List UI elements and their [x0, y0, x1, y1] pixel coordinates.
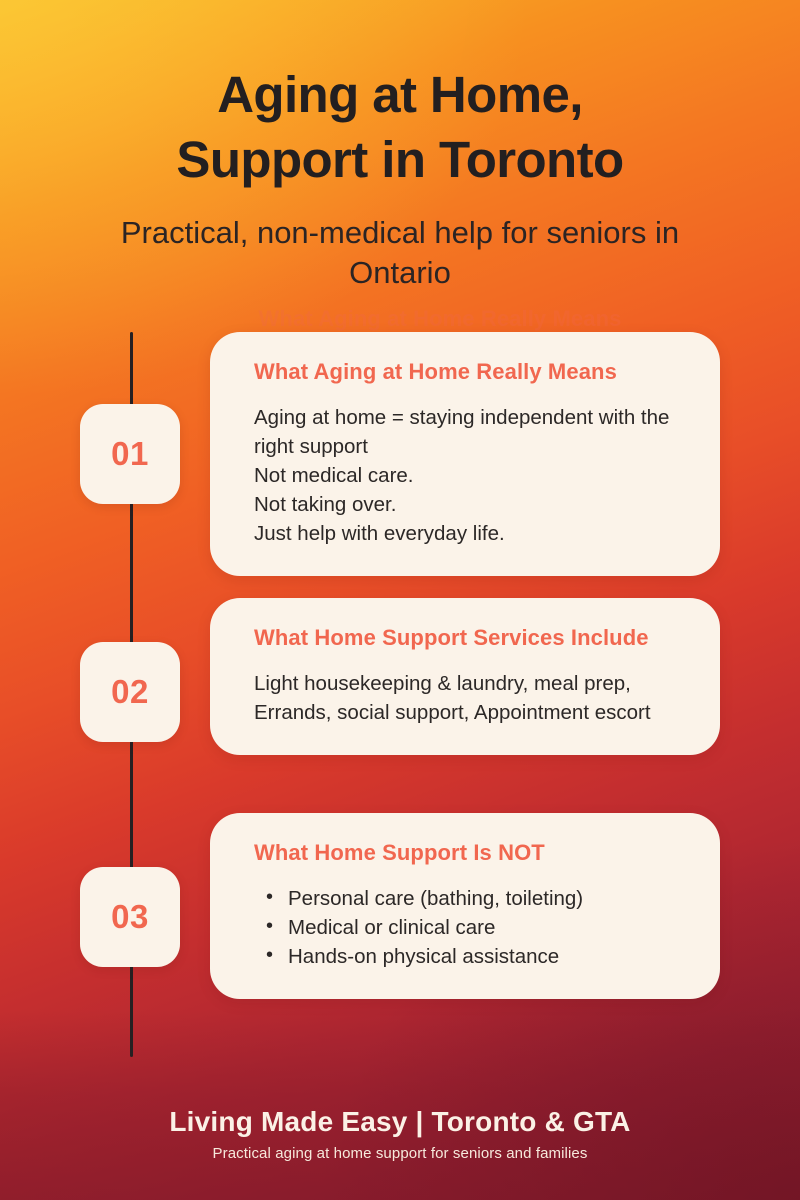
- list-item: Personal care (bathing, toileting): [254, 884, 676, 913]
- step-number-badge-3: 03: [80, 867, 180, 967]
- infographic-poster: Aging at Home, Support in Toronto Practi…: [0, 0, 800, 1200]
- step-card-1: What Aging at Home Really Means Aging at…: [210, 332, 720, 576]
- step-card-3: What Home Support Is NOT Personal care (…: [210, 813, 720, 999]
- step-card-2: What Home Support Services Include Light…: [210, 598, 720, 755]
- step-number-badge-2: 02: [80, 642, 180, 742]
- step-number-label-3: 03: [111, 898, 149, 936]
- list-item: Hands-on physical assistance: [254, 942, 676, 971]
- step-card-body-1: Aging at home = staying independent with…: [254, 403, 676, 549]
- title-line-2: Support in Toronto: [60, 127, 740, 192]
- footer-section: Living Made Easy | Toronto & GTA Practic…: [0, 1106, 800, 1162]
- step-number-label-2: 02: [111, 673, 149, 711]
- list-item: Medical or clinical care: [254, 913, 676, 942]
- step-card-body-2: Light housekeeping & laundry, meal prep,…: [254, 669, 676, 727]
- footer-tagline: Practical aging at home support for seni…: [0, 1145, 800, 1162]
- step-card-title-2: What Home Support Services Include: [254, 624, 676, 653]
- page-title: Aging at Home, Support in Toronto: [0, 62, 800, 193]
- title-line-1: Aging at Home,: [60, 62, 740, 127]
- step-card-bullet-list-3: Personal care (bathing, toileting) Medic…: [254, 884, 676, 971]
- step-number-badge-1: 01: [80, 404, 180, 504]
- footer-brand: Living Made Easy | Toronto & GTA: [0, 1106, 800, 1138]
- header-section: Aging at Home, Support in Toronto Practi…: [0, 0, 800, 294]
- ghost-echo-text: What Aging at Home Really Means: [250, 306, 630, 332]
- page-subtitle: Practical, non-medical help for seniors …: [0, 213, 800, 295]
- step-card-title-1: What Aging at Home Really Means: [254, 358, 676, 387]
- step-number-label-1: 01: [111, 435, 149, 473]
- step-card-title-3: What Home Support Is NOT: [254, 839, 676, 868]
